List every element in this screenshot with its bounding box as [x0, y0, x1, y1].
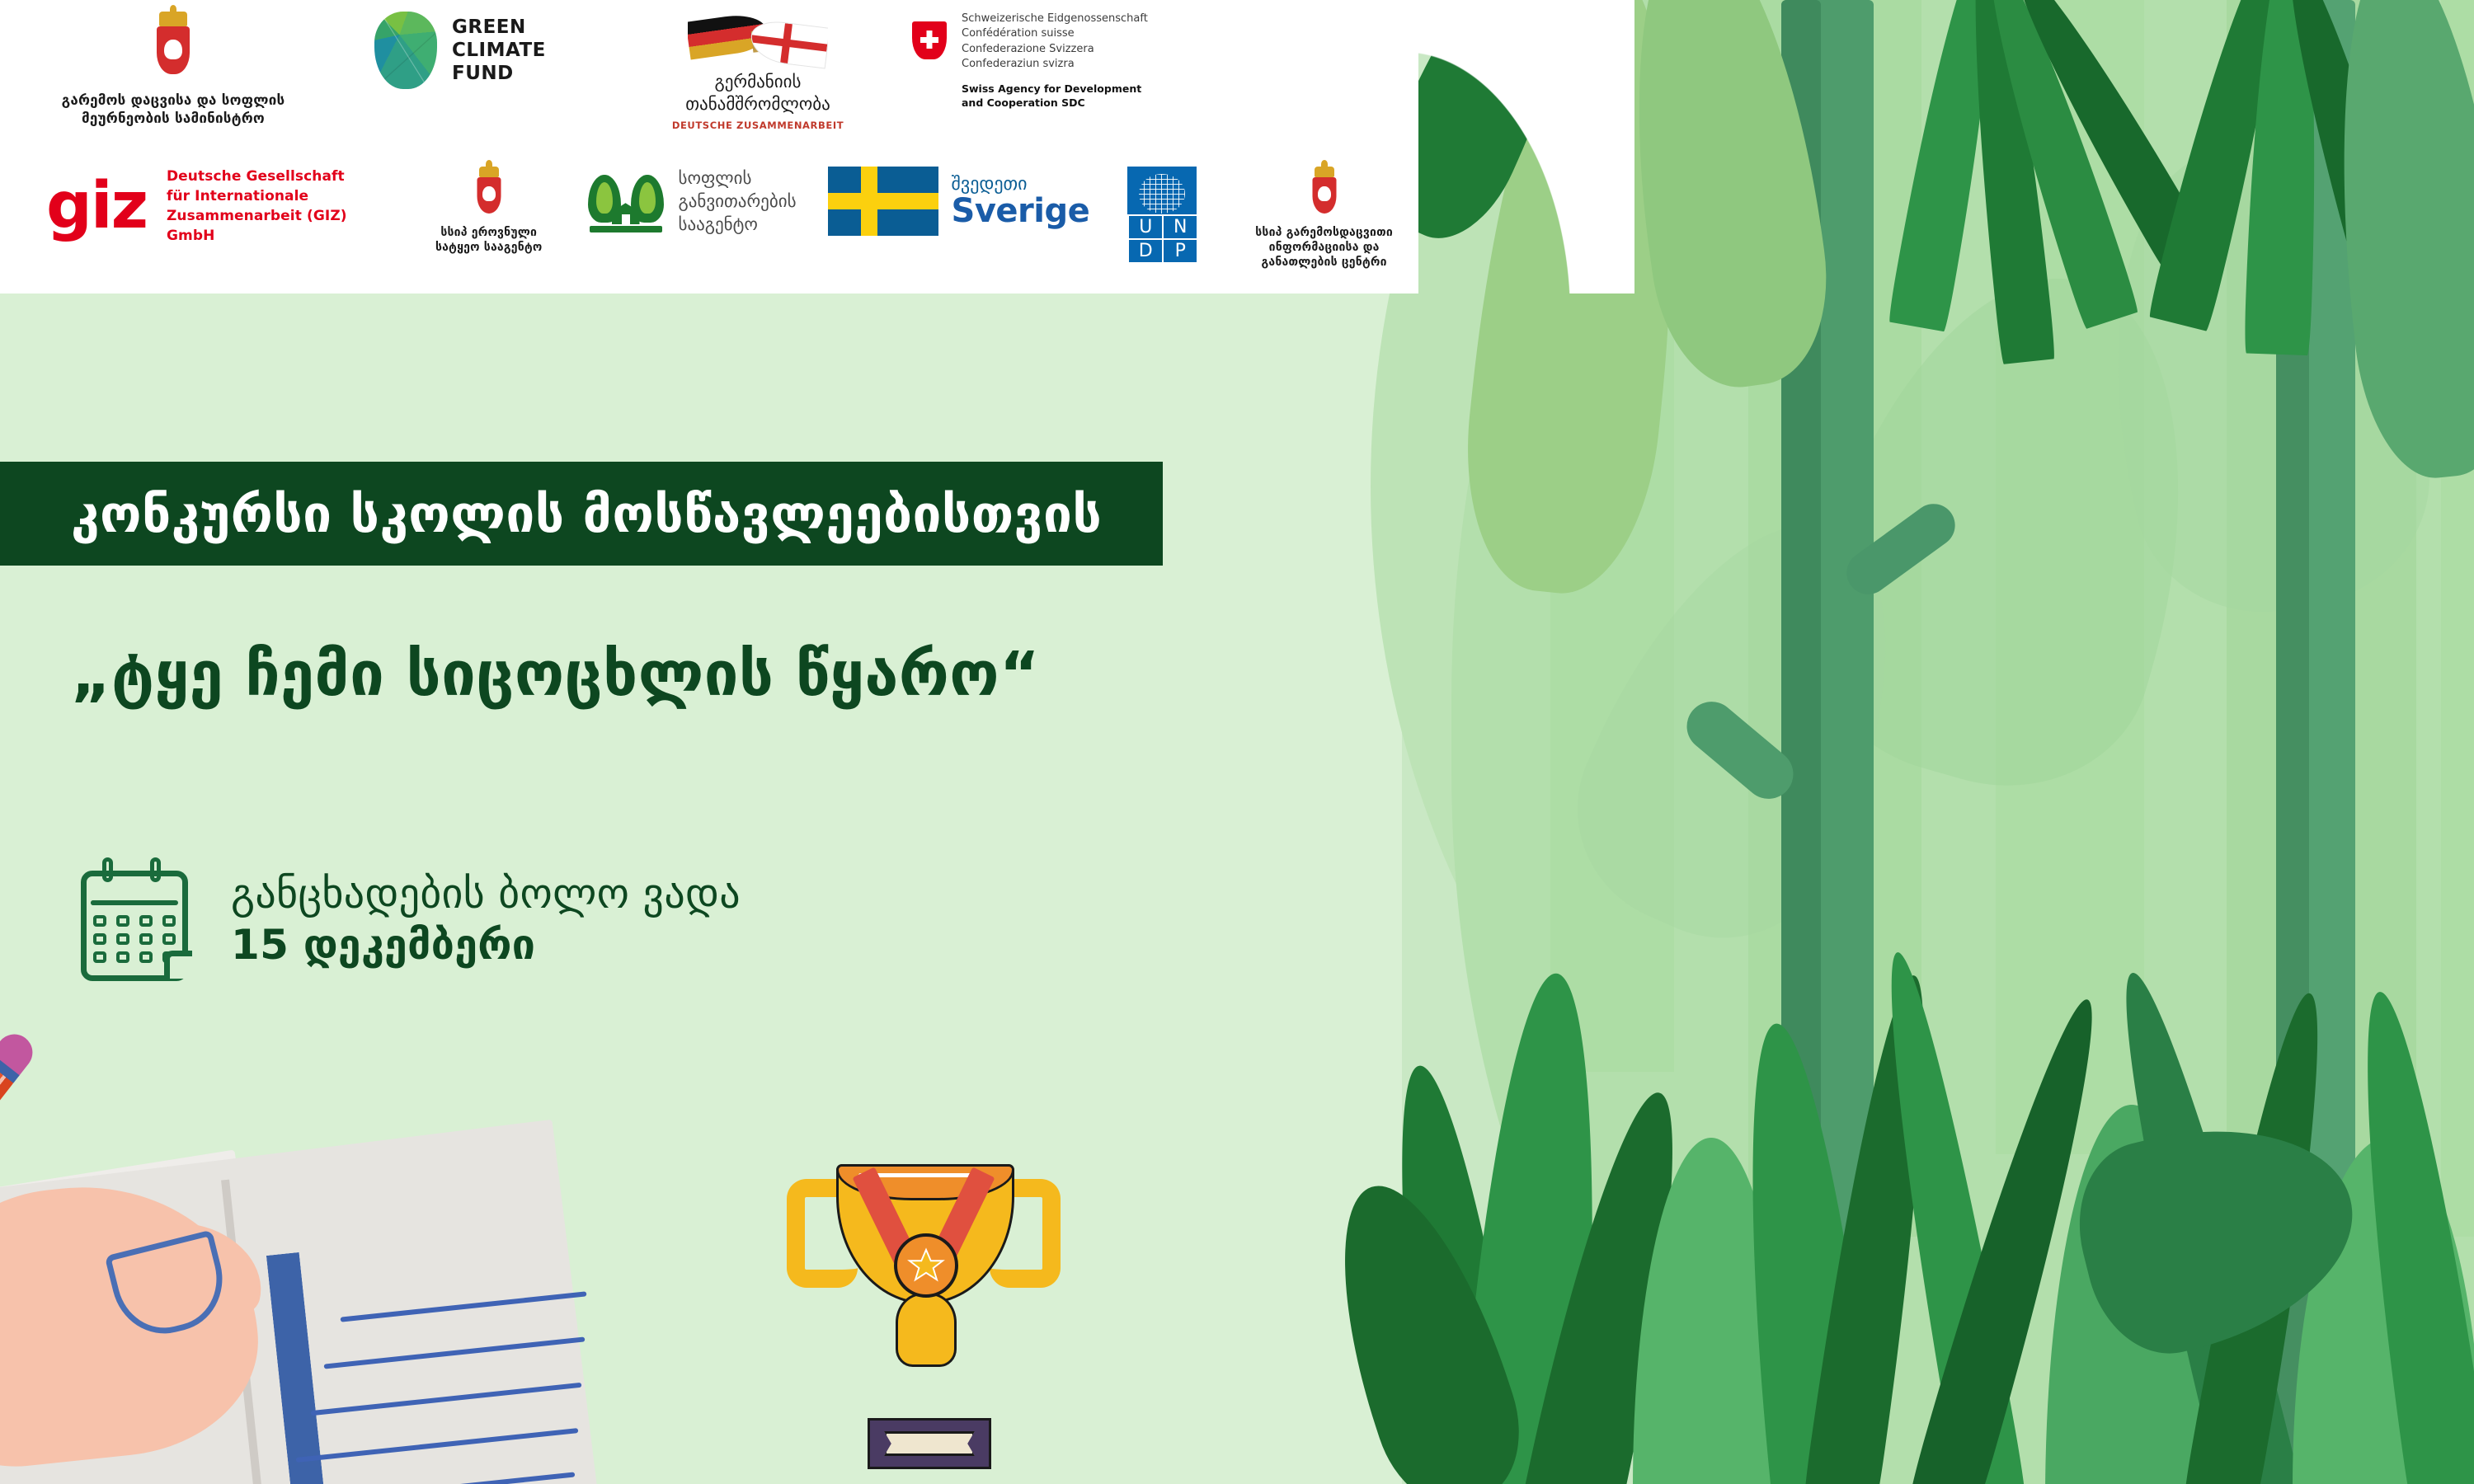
logo-rural-development-agency: სოფლის განვითარების სააგენტო [588, 167, 797, 236]
georgia-coat-of-arms-icon [148, 12, 199, 81]
poster-canvas: გარემოს დაცვისა და სოფლის მეურნეობის სამ… [0, 0, 2474, 1484]
logo-caption-line: FUND [452, 62, 546, 85]
logo-undp: U N D P [1127, 167, 1197, 262]
logo-caption-line: ინფორმაციისა და [1255, 241, 1393, 256]
logo-subcaption-line: Swiss Agency for Development [962, 82, 1148, 96]
undp-letter: P [1162, 238, 1197, 262]
undp-letter: U [1127, 214, 1162, 238]
logo-german-cooperation: გერმანიის თანამშრომლობა DEUTSCHE ZUSAMME… [647, 12, 869, 131]
green-climate-fund-globe-icon [374, 12, 437, 89]
georgia-coat-of-arms-icon [1306, 167, 1343, 218]
logo-sweden: შვედეთი Sverige [828, 167, 1090, 236]
logo-caption-line: CLIMATE [452, 39, 546, 62]
trophy-cup-icon [775, 1154, 1072, 1484]
headline-banner: კონკურსი სკოლის მოსწავლეებისთვის [0, 462, 1163, 566]
sponsor-logo-header: გარემოს დაცვისა და სოფლის მეურნეობის სამ… [0, 0, 1418, 294]
logo-caption-line: Zusammenarbeit (GIZ) GmbH [167, 206, 383, 246]
logo-caption-line: სატყეო სააგენტო [435, 241, 543, 256]
hand-writing-with-pencil-icon [0, 1055, 577, 1484]
logo-giz: giz Deutsche Gesellschaft für Internatio… [46, 167, 383, 247]
logo-national-forestry-agency: სსიპ ეროვნული სატყეო სააგენტო [418, 167, 560, 256]
deadline-block: განცხადების ბოლო ვადა 15 დეკემბერი [81, 857, 741, 981]
undp-logo-icon: U N D P [1127, 167, 1197, 262]
logo-caption-line: სოფლის [679, 167, 797, 190]
sweden-flag-icon [828, 167, 938, 236]
page-title: კონკურსი სკოლის მოსწავლეებისთვის [71, 484, 1102, 544]
swiss-shield-icon [912, 21, 947, 59]
logo-caption-line: Confederazione Svizzera [962, 42, 1148, 57]
logo-caption-line: გარემოს დაცვისა და სოფლის [62, 92, 285, 110]
calendar-icon [81, 857, 195, 981]
logo-mepa: გარემოს დაცვისა და სოფლის მეურნეობის სამ… [49, 12, 297, 129]
deadline-label: განცხადების ბოლო ვადა [231, 870, 741, 918]
giz-wordmark-icon: giz [46, 181, 147, 232]
two-trees-house-icon [588, 170, 664, 232]
logo-caption-line: სააგენტო [679, 213, 797, 236]
logo-caption-line: განათლების ცენტრი [1255, 256, 1393, 270]
logo-green-climate-fund: GREEN CLIMATE FUND [374, 12, 622, 89]
logo-caption-line: Confederaziun svizra [962, 57, 1148, 72]
logo-swiss-sdc: Schweizerische Eidgenossenschaft Confédé… [912, 12, 1148, 110]
logo-caption-line: მეურნეობის სამინისტრო [62, 110, 285, 129]
logo-environmental-info-center: სსიპ გარემოსდაცვითი ინფორმაციისა და განა… [1230, 167, 1418, 270]
deadline-date: 15 დეკემბერი [231, 921, 741, 969]
logo-caption-line: სსიპ გარემოსდაცვითი [1255, 226, 1393, 241]
logo-caption-line: GREEN [452, 16, 546, 39]
logo-wordmark: Sverige [952, 195, 1090, 228]
logo-caption-line: Confédération suisse [962, 26, 1148, 41]
logo-caption-line: თანამშრომლობა [685, 93, 830, 115]
logo-caption-line: Deutsche Gesellschaft [167, 167, 383, 186]
german-georgian-flag-ribbon-icon [688, 12, 828, 71]
logo-caption-line: für Internationale [167, 186, 383, 206]
logo-caption-line: გერმანიის [685, 71, 830, 93]
logo-subcaption-line: and Cooperation SDC [962, 96, 1148, 110]
contest-theme-subtitle: „ტყე ჩემი სიცოცხლის წყარო“ [71, 639, 1040, 710]
logo-caption-line: Schweizerische Eidgenossenschaft [962, 12, 1148, 26]
georgia-coat-of-arms-icon [471, 167, 507, 218]
logo-caption-line: სსიპ ეროვნული [435, 226, 543, 241]
logo-caption-line: განვითარების [679, 190, 797, 213]
undp-letter: N [1162, 214, 1197, 238]
undp-letter: D [1127, 238, 1162, 262]
logo-subcaption: DEUTSCHE ZUSAMMENARBEIT [672, 120, 844, 131]
